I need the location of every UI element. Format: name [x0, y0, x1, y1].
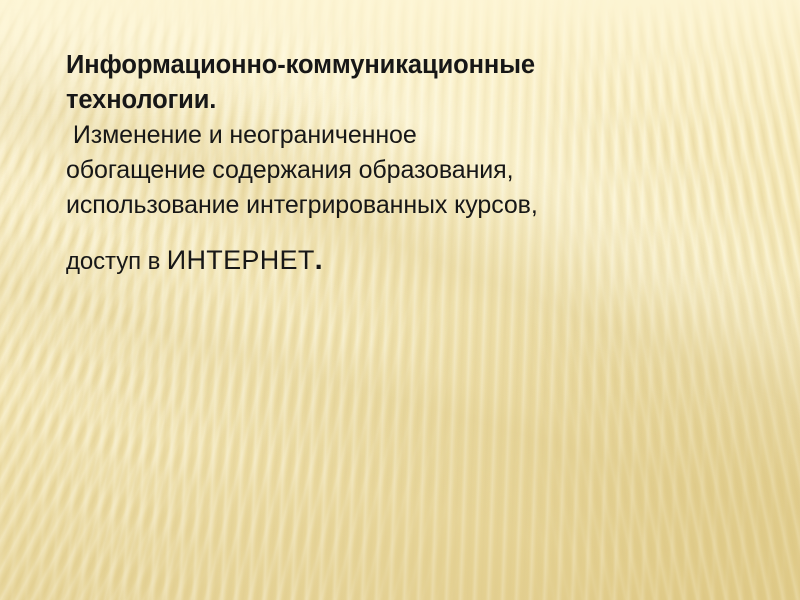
- slide-body-line-4-lead: доступ в: [66, 248, 167, 275]
- slide-body-line-3: использование интегрированных курсов,: [66, 188, 766, 223]
- slide-title-line-2: технологии.: [66, 83, 766, 118]
- presentation-slide: Информационно-коммуникационные технологи…: [0, 0, 800, 600]
- slide-body-line-2: обогащение содержания образования,: [66, 153, 766, 188]
- slide-body-line-4-emphasis: ИНТЕРНЕТ: [167, 245, 315, 275]
- slide-text-block: Информационно-коммуникационные технологи…: [66, 48, 766, 279]
- slide-body-line-4-terminator: .: [315, 244, 323, 276]
- slide-body-line-1: Изменение и неограниченное: [66, 118, 766, 153]
- slide-body-line-4: доступ в ИНТЕРНЕТ.: [66, 243, 766, 279]
- slide-title-line-1: Информационно-коммуникационные: [66, 48, 766, 83]
